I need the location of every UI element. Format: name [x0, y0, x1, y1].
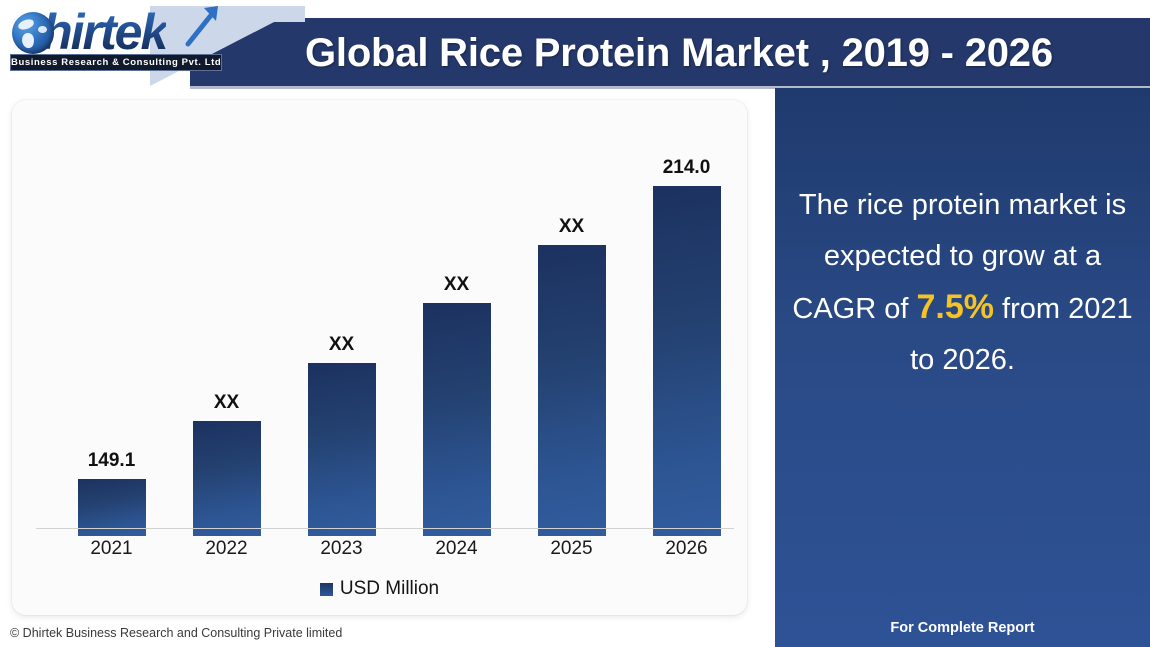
legend-label: USD Million	[340, 578, 439, 600]
logo-tagline: Business Research & Consulting Pvt. Ltd.	[10, 54, 222, 71]
bar-2025[interactable]	[538, 245, 606, 536]
x-tick-2024: 2024	[399, 538, 514, 560]
bar-chart-plot-area: 149.1XXXXXXXX214.0	[36, 118, 726, 536]
bar-slot: 149.1	[54, 126, 169, 536]
x-tick-2023: 2023	[284, 538, 399, 560]
contact-line-2: Contact Us:	[783, 641, 1142, 647]
bar-value-label-2023: XX	[284, 334, 399, 356]
contact-line-1: For Complete Report	[783, 616, 1142, 641]
legend-swatch-icon	[320, 583, 333, 596]
bar-value-label-2026: 214.0	[629, 157, 744, 179]
bar-value-label-2024: XX	[399, 274, 514, 296]
globe-icon	[12, 12, 54, 54]
bar-2023[interactable]	[308, 363, 376, 536]
bar-slot: XX	[399, 126, 514, 536]
cagr-value: 7.5%	[916, 288, 994, 326]
bar-2022[interactable]	[193, 421, 261, 536]
globe-landmass-east	[38, 26, 47, 33]
contact-block: For Complete Report Contact Us: sales@dh…	[783, 616, 1142, 647]
logo-wordmark-text: hirtek	[42, 4, 166, 60]
bar-slot: 214.0	[629, 126, 744, 536]
x-tick-2021: 2021	[54, 538, 169, 560]
bar-value-label-2021: 149.1	[54, 450, 169, 472]
bar-2024[interactable]	[423, 303, 491, 536]
growth-arrow-icon	[182, 4, 226, 48]
bar-slot: XX	[514, 126, 629, 536]
globe-landmass-north	[17, 18, 35, 31]
x-tick-2026: 2026	[629, 538, 744, 560]
chart-legend: USD Million	[12, 578, 747, 600]
chart-card: 149.1XXXXXXXX214.0 202120222023202420252…	[12, 100, 747, 615]
bar-2026[interactable]	[653, 186, 721, 536]
x-tick-2022: 2022	[169, 538, 284, 560]
infographic-page: Dhirtek Business Research & Consulting P…	[0, 0, 1150, 647]
bar-value-label-2022: XX	[169, 392, 284, 414]
copyright-footer: © Dhirtek Business Research and Consulti…	[10, 626, 342, 640]
bar-value-label-2025: XX	[514, 216, 629, 238]
cagr-statement: The rice protein market is expected to g…	[789, 180, 1136, 386]
header: Dhirtek Business Research & Consulting P…	[0, 0, 1150, 88]
x-tick-2025: 2025	[514, 538, 629, 560]
x-axis-line	[36, 528, 734, 529]
globe-landmass-south	[21, 32, 35, 49]
page-title: Global Rice Protein Market , 2019 - 2026	[305, 24, 1145, 82]
bar-slot: XX	[169, 126, 284, 536]
company-logo: Dhirtek Business Research & Consulting P…	[4, 2, 234, 78]
right-info-panel: The rice protein market is expected to g…	[775, 88, 1150, 647]
bar-slot: XX	[284, 126, 399, 536]
